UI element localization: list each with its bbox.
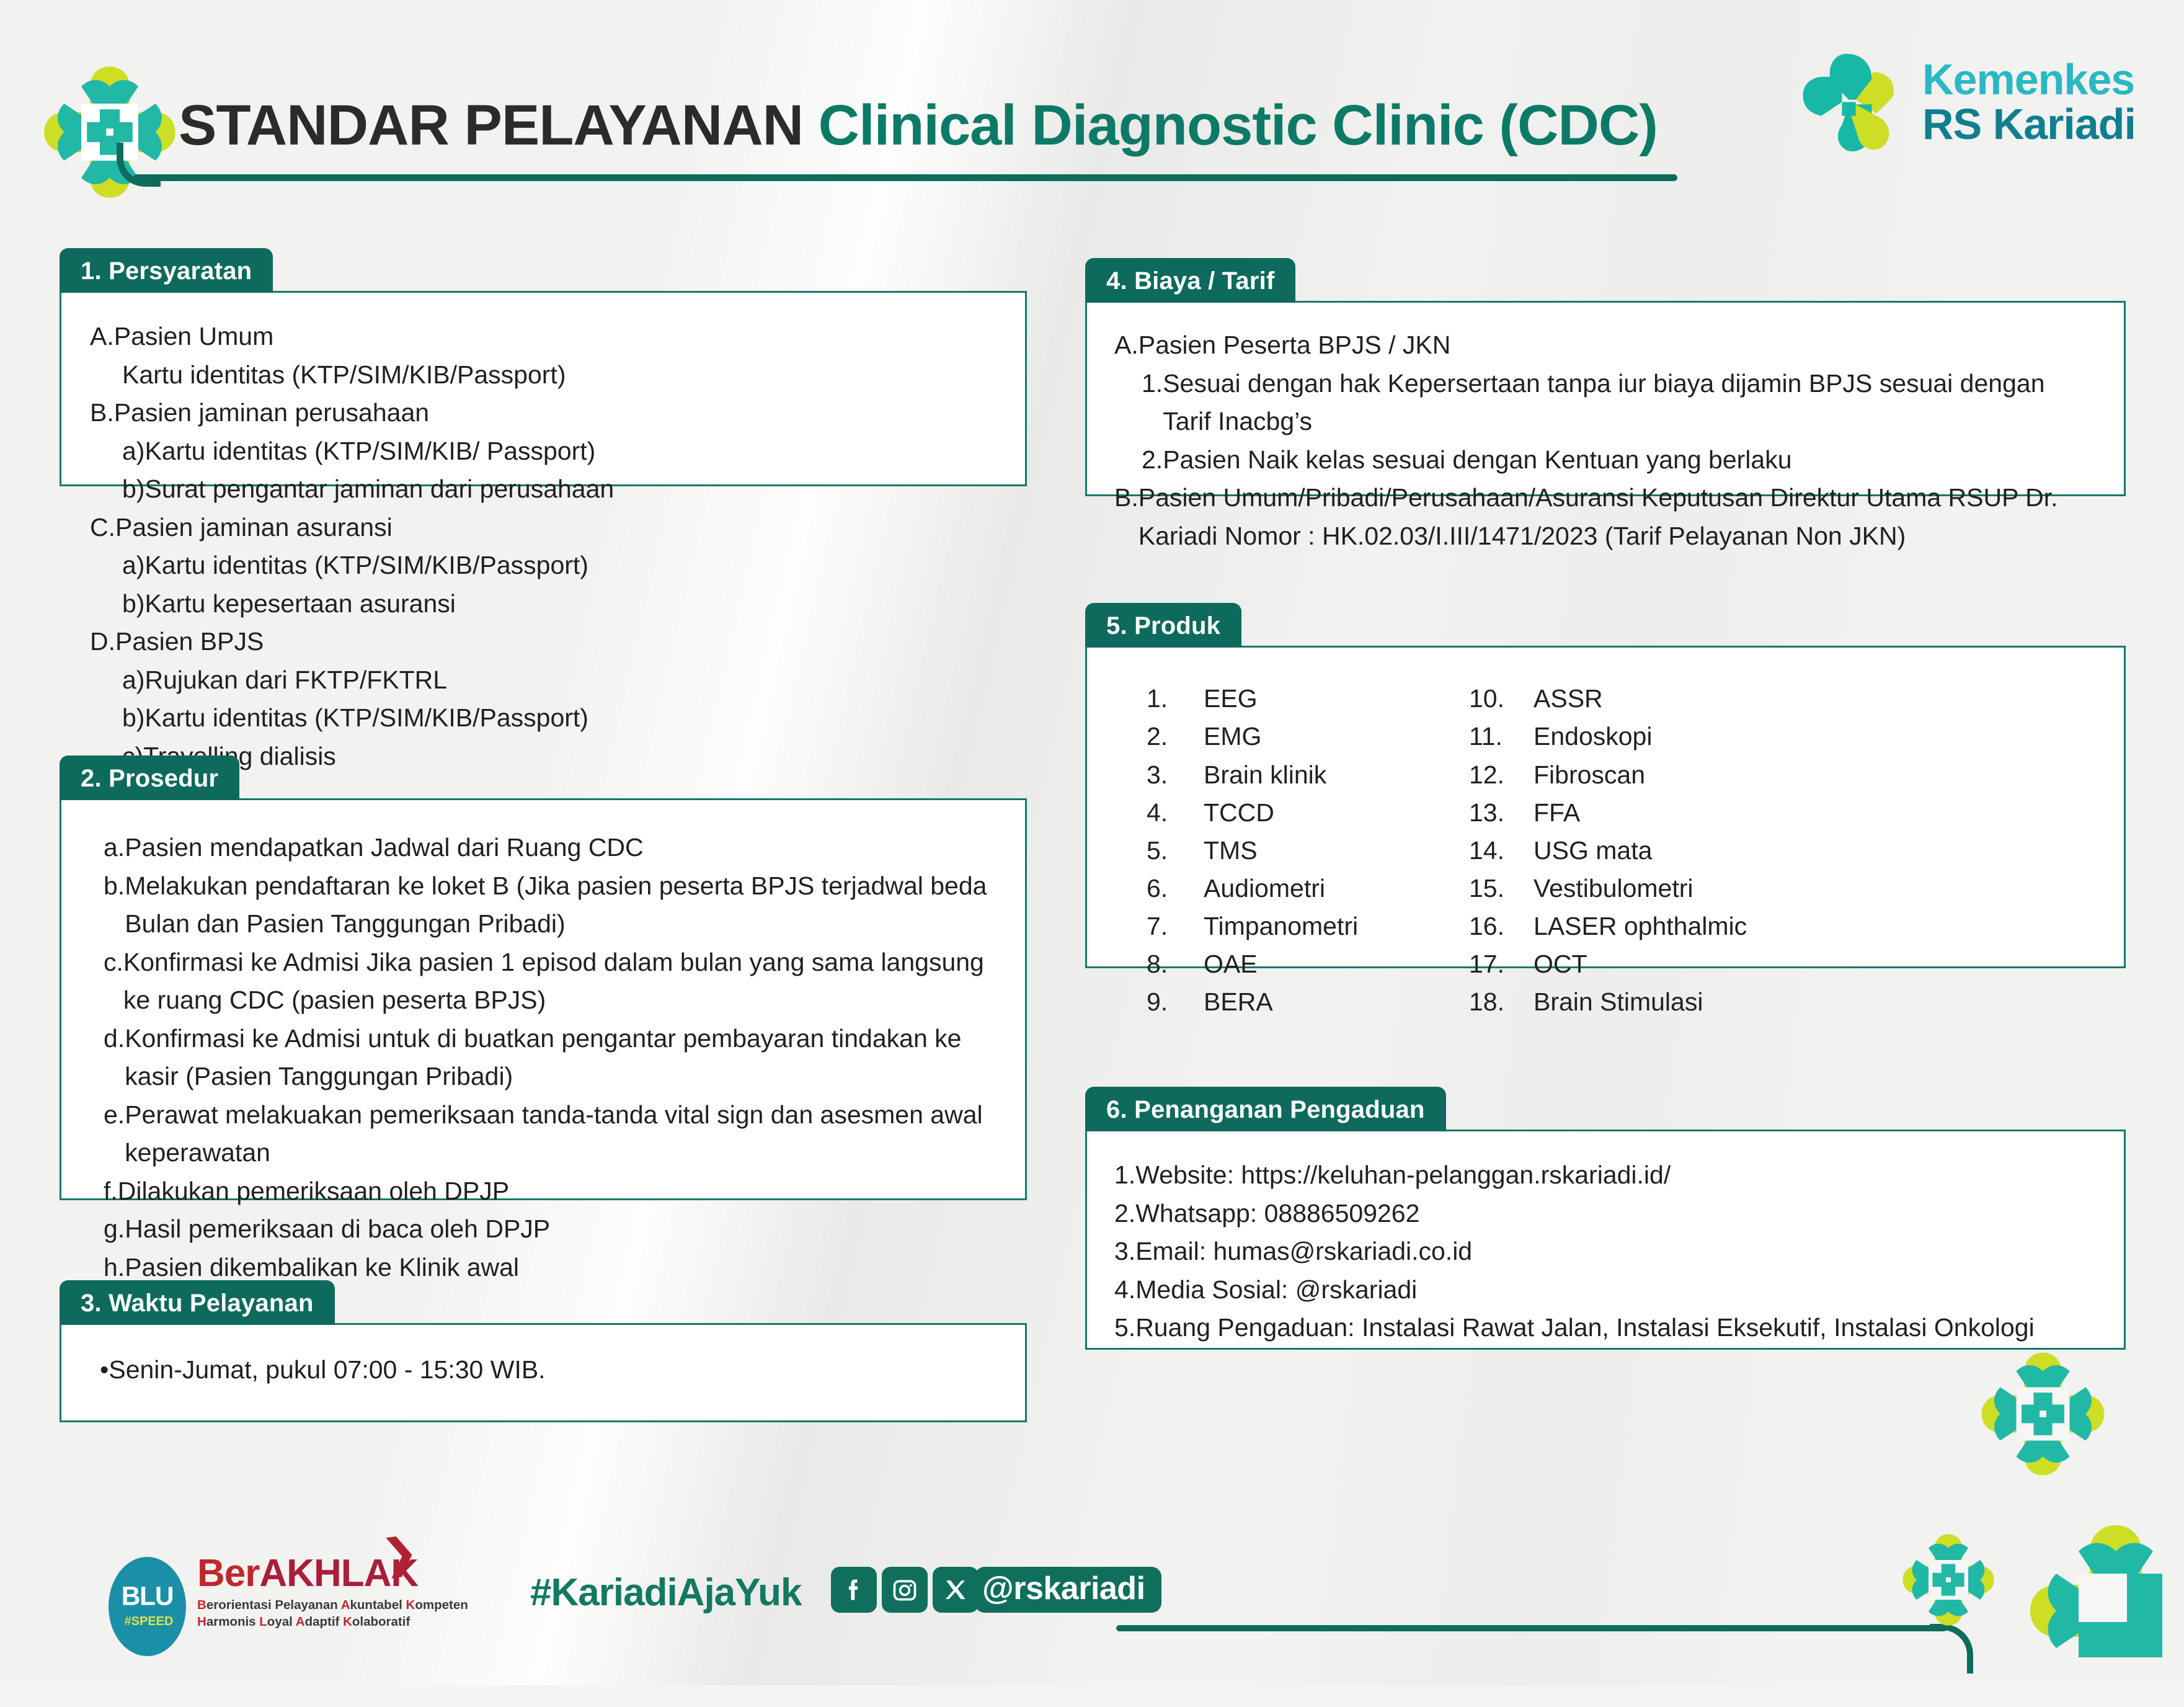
section-produk: 5. Produk 1.EEG 2.EMG 3.Brain klinik 4.T… xyxy=(1085,603,2126,968)
page-title-secondary: Clinical Diagnostic Clinic (CDC) xyxy=(819,94,1658,157)
svg-text:#SPEED: #SPEED xyxy=(125,1615,174,1628)
bullet-icon: • xyxy=(90,1351,109,1389)
list-text: Email: humas@rskariadi.co.id xyxy=(1135,1232,1472,1271)
list-text: ASSR xyxy=(1534,680,1603,718)
list-item: 7.Timpanometri xyxy=(1147,907,1469,945)
list-text: Kartu identitas (KTP/SIM/KIB/Passport) xyxy=(122,356,566,394)
list-marker: b) xyxy=(122,470,144,509)
list-marker: 17. xyxy=(1469,945,1534,983)
list-marker: 5. xyxy=(1147,832,1204,870)
list-text: OCT xyxy=(1534,945,1587,983)
list-item: 13.FFA xyxy=(1469,794,1747,832)
list-item: 15.Vestibulometri xyxy=(1469,870,1747,907)
footer-rule xyxy=(1116,1625,1947,1631)
list-item: A.Pasien Umum xyxy=(90,318,997,356)
list-marker: 3. xyxy=(1114,1232,1135,1271)
list-text: Pasien BPJS xyxy=(115,623,264,661)
list-item: C.Pasien jaminan asuransi xyxy=(90,509,997,547)
list-marker: 4. xyxy=(1114,1271,1135,1309)
list-item: b)Surat pengantar jaminan dari perusahaa… xyxy=(122,470,997,509)
list-item: 16.LASER ophthalmic xyxy=(1469,907,1747,945)
chevron-right-icon: ❯ xyxy=(381,1531,419,1576)
list-marker: D. xyxy=(90,623,115,661)
section-tab-3: 3. Waktu Pelayanan xyxy=(60,1280,335,1325)
list-marker: 15. xyxy=(1469,870,1534,907)
section-biaya-tarif: 4. Biaya / Tarif A.Pasien Peserta BPJS /… xyxy=(1085,258,2126,496)
list-item: 1.Sesuai dengan hak Kepersertaan tanpa i… xyxy=(1142,365,2097,441)
list-marker: 2. xyxy=(1114,1195,1135,1233)
list-marker: 1. xyxy=(1114,1156,1135,1195)
decorative-flower-corner xyxy=(2023,1518,2184,1704)
berakhlak-logo: BerAKHLAK ❯ Berorientasi Pelayanan Akunt… xyxy=(197,1554,468,1630)
list-text: OAE xyxy=(1204,945,1258,983)
produk-column-2: 10.ASSR 11.Endoskopi 12.Fibroscan 13.FFA… xyxy=(1469,680,1747,1021)
list-marker: 5. xyxy=(1114,1309,1135,1347)
list-item: d.Konfirmasi ke Admisi untuk di buatkan … xyxy=(104,1020,997,1096)
list-item: 18.Brain Stimulasi xyxy=(1469,983,1747,1021)
produk-column-1: 1.EEG 2.EMG 3.Brain klinik 4.TCCD 5.TMS … xyxy=(1147,680,1469,1021)
list-marker: e. xyxy=(104,1096,125,1172)
list-item: 14.USG mata xyxy=(1469,832,1747,870)
section-body-5: 1.EEG 2.EMG 3.Brain klinik 4.TCCD 5.TMS … xyxy=(1085,646,2126,968)
list-item: 11.Endoskopi xyxy=(1469,718,1747,755)
list-marker: A. xyxy=(1114,326,1139,365)
list-item: 1.Website: https://keluhan-pelanggan.rsk… xyxy=(1114,1156,2097,1195)
list-text: Pasien Umum xyxy=(114,318,273,356)
list-item: a)Kartu identitas (KTP/SIM/KIB/ Passport… xyxy=(122,432,997,471)
list-text: Surat pengantar jaminan dari perusahaan xyxy=(144,470,614,509)
list-text: Pasien Naik kelas sesuai dengan Kentuan … xyxy=(1163,441,1791,479)
social-links[interactable]: @rskariadi xyxy=(831,1567,1161,1613)
page-footer: BLU #SPEED BerAKHLAK ❯ Berorientasi Pela… xyxy=(0,1532,2184,1685)
list-marker: 6. xyxy=(1147,870,1204,907)
page-header: STANDAR PELAYANAN Clinical Diagnostic Cl… xyxy=(0,0,2184,186)
list-text: Pasien jaminan perusahaan xyxy=(114,394,429,432)
section-body-1: A.Pasien Umum Kartu identitas (KTP/SIM/K… xyxy=(60,291,1027,486)
list-text: Brain Stimulasi xyxy=(1534,983,1703,1021)
list-item: 4.TCCD xyxy=(1147,794,1469,832)
list-marker: a) xyxy=(122,661,144,700)
list-item: B.Pasien Umum/Pribadi/Perusahaan/Asurans… xyxy=(1114,479,2097,555)
header-rule xyxy=(133,174,1677,181)
brand-line-1: Kemenkes xyxy=(1922,58,2136,102)
list-text: Endoskopi xyxy=(1534,718,1652,755)
section-penanganan-pengaduan: 6. Penanganan Pengaduan 1.Website: https… xyxy=(1085,1087,2126,1350)
list-item: 8.OAE xyxy=(1147,945,1469,983)
list-marker: 14. xyxy=(1469,832,1534,870)
instagram-icon[interactable] xyxy=(882,1567,928,1613)
section-tab-1: 1. Persyaratan xyxy=(60,248,273,293)
list-text: Hasil pemeriksaan di baca oleh DPJP xyxy=(125,1210,550,1249)
list-marker: 2. xyxy=(1142,441,1163,479)
page-title-primary: STANDAR PELAYANAN xyxy=(179,94,803,157)
list-text: EEG xyxy=(1204,680,1258,718)
list-marker: 1. xyxy=(1147,680,1204,718)
list-text: Melakukan pendaftaran ke loket B (Jika p… xyxy=(125,867,997,943)
list-text: Dilakukan pemeriksaan oleh DPJP xyxy=(118,1172,509,1211)
list-marker: 18. xyxy=(1469,983,1534,1021)
list-text: Perawat melakuakan pemeriksaan tanda-tan… xyxy=(125,1096,997,1172)
list-marker: a. xyxy=(104,829,125,867)
section-prosedur: 2. Prosedur a.Pasien mendapatkan Jadwal … xyxy=(60,755,1027,1200)
list-text: Media Sosial: @rskariadi xyxy=(1135,1271,1417,1309)
list-text: Pasien jaminan asuransi xyxy=(115,509,393,547)
list-marker: 11. xyxy=(1469,718,1534,755)
facebook-icon[interactable] xyxy=(831,1567,877,1613)
list-item: 9.BERA xyxy=(1147,983,1469,1021)
list-item: 6.Audiometri xyxy=(1147,870,1469,907)
list-marker: 2. xyxy=(1147,718,1204,755)
list-text: Audiometri xyxy=(1204,870,1325,907)
list-marker: a) xyxy=(122,432,144,471)
list-text: Kartu identitas (KTP/SIM/KIB/ Passport) xyxy=(144,432,595,471)
list-item: f.Dilakukan pemeriksaan oleh DPJP xyxy=(104,1172,997,1211)
list-item: 2.Whatsapp: 08886509262 xyxy=(1114,1195,2097,1233)
list-item: 12.Fibroscan xyxy=(1469,756,1747,794)
list-marker: 12. xyxy=(1469,756,1534,794)
list-marker: C. xyxy=(90,509,115,547)
list-marker: 10. xyxy=(1469,680,1534,718)
list-marker: f. xyxy=(104,1172,118,1211)
section-body-2: a.Pasien mendapatkan Jadwal dari Ruang C… xyxy=(60,798,1027,1200)
list-item: b)Kartu kepesertaan asuransi xyxy=(122,585,997,623)
list-marker: 4. xyxy=(1147,794,1204,832)
list-marker: d. xyxy=(104,1020,125,1096)
list-marker: 7. xyxy=(1147,907,1204,945)
list-item: •Senin-Jumat, pukul 07:00 - 15:30 WIB. xyxy=(90,1351,997,1389)
list-marker: 9. xyxy=(1147,983,1204,1021)
list-marker: 13. xyxy=(1469,794,1534,832)
list-marker: 16. xyxy=(1469,907,1534,945)
kemenkes-brand: Kemenkes RS Kariadi xyxy=(1791,45,2136,159)
list-item: 3.Email: humas@rskariadi.co.id xyxy=(1114,1232,2097,1271)
list-item: 1.EEG xyxy=(1147,680,1469,718)
decorative-flower-small xyxy=(1899,1530,1998,1629)
list-marker: 3. xyxy=(1147,756,1204,794)
list-item: 4.Media Sosial: @rskariadi xyxy=(1114,1271,2097,1309)
list-text: Brain klinik xyxy=(1204,756,1326,794)
list-item: 2.EMG xyxy=(1147,718,1469,755)
list-marker: c. xyxy=(104,943,123,1020)
list-text: Kartu kepesertaan asuransi xyxy=(144,585,455,623)
list-marker: g. xyxy=(104,1210,125,1249)
svg-text:BLU: BLU xyxy=(122,1582,174,1611)
list-marker: b. xyxy=(104,867,125,943)
list-marker: b) xyxy=(122,699,144,738)
decorative-flower-large xyxy=(1976,1347,2110,1481)
list-text: Pasien mendapatkan Jadwal dari Ruang CDC xyxy=(125,829,643,867)
x-twitter-icon[interactable] xyxy=(933,1567,979,1613)
list-item: a)Rujukan dari FKTP/FKTRL xyxy=(122,661,997,700)
brand-line-2: RS Kariadi xyxy=(1922,102,2136,146)
section-persyaratan: 1. Persyaratan A.Pasien Umum Kartu ident… xyxy=(60,248,1027,486)
section-tab-5: 5. Produk xyxy=(1085,603,1241,648)
list-text: FFA xyxy=(1534,794,1580,832)
list-text: Whatsapp: 08886509262 xyxy=(1135,1195,1419,1233)
list-marker: A. xyxy=(90,318,114,356)
list-text: Fibroscan xyxy=(1534,756,1645,794)
list-text: BERA xyxy=(1204,983,1273,1021)
list-text: Rujukan dari FKTP/FKTRL xyxy=(144,661,447,700)
list-item: 2.Pasien Naik kelas sesuai dengan Kentua… xyxy=(1142,441,2097,479)
list-text: LASER ophthalmic xyxy=(1534,907,1747,945)
list-item: B.Pasien jaminan perusahaan xyxy=(90,394,997,432)
list-text: EMG xyxy=(1204,718,1261,755)
list-item: Kartu identitas (KTP/SIM/KIB/Passport) xyxy=(122,356,997,394)
section-tab-6: 6. Penanganan Pengaduan xyxy=(1085,1087,1446,1131)
list-text: Pasien Peserta BPJS / JKN xyxy=(1139,326,1451,365)
social-handle[interactable]: @rskariadi xyxy=(975,1567,1161,1613)
list-item: 5.TMS xyxy=(1147,832,1469,870)
kemenkes-clover-logo xyxy=(1791,45,1906,159)
blu-logo: BLU #SPEED xyxy=(109,1557,186,1656)
list-text: Konfirmasi ke Admisi Jika pasien 1 episo… xyxy=(123,943,997,1020)
list-item: 10.ASSR xyxy=(1469,680,1747,718)
page-title: STANDAR PELAYANAN Clinical Diagnostic Cl… xyxy=(179,93,1658,158)
list-marker: 1. xyxy=(1142,365,1163,441)
list-item: b.Melakukan pendaftaran ke loket B (Jika… xyxy=(104,867,997,943)
list-marker: b) xyxy=(122,585,144,623)
list-item: 5.Ruang Pengaduan: Instalasi Rawat Jalan… xyxy=(1114,1309,2097,1347)
list-item: 17.OCT xyxy=(1469,945,1747,983)
berakhlak-prefix: Ber xyxy=(197,1552,259,1595)
list-text: Timpanometri xyxy=(1204,907,1358,945)
list-item: e.Perawat melakuakan pemeriksaan tanda-t… xyxy=(104,1096,997,1172)
list-text: Kartu identitas (KTP/SIM/KIB/Passport) xyxy=(144,699,588,738)
section-tab-4: 4. Biaya / Tarif xyxy=(1085,258,1295,303)
list-text: TMS xyxy=(1204,832,1258,870)
list-text: Sesuai dengan hak Kepersertaan tanpa iur… xyxy=(1163,365,2097,441)
list-item: c)Travelling dialisis xyxy=(122,738,997,776)
list-item: D.Pasien BPJS xyxy=(90,623,997,661)
list-text: Kartu identitas (KTP/SIM/KIB/Passport) xyxy=(144,546,588,585)
list-text: Senin-Jumat, pukul 07:00 - 15:30 WIB. xyxy=(109,1351,545,1389)
list-marker: 8. xyxy=(1147,945,1204,983)
section-body-3: •Senin-Jumat, pukul 07:00 - 15:30 WIB. xyxy=(60,1323,1027,1422)
list-text: Ruang Pengaduan: Instalasi Rawat Jalan, … xyxy=(1135,1309,2035,1347)
list-marker: B. xyxy=(90,394,114,432)
list-marker: a) xyxy=(122,546,144,585)
section-body-6: 1.Website: https://keluhan-pelanggan.rsk… xyxy=(1085,1130,2126,1350)
section-tab-2: 2. Prosedur xyxy=(60,755,239,800)
section-waktu-pelayanan: 3. Waktu Pelayanan •Senin-Jumat, pukul 0… xyxy=(60,1280,1027,1422)
list-text: Website: https://keluhan-pelanggan.rskar… xyxy=(1135,1156,1671,1195)
list-item: b)Kartu identitas (KTP/SIM/KIB/Passport) xyxy=(122,699,997,738)
section-body-4: A.Pasien Peserta BPJS / JKN 1.Sesuai den… xyxy=(1085,301,2126,496)
list-text: Pasien Umum/Pribadi/Perusahaan/Asuransi … xyxy=(1139,479,2097,555)
list-text: USG mata xyxy=(1534,832,1652,870)
campaign-hashtag: #KariadiAjaYuk xyxy=(530,1571,801,1615)
list-text: Vestibulometri xyxy=(1534,870,1693,907)
list-item: c.Konfirmasi ke Admisi Jika pasien 1 epi… xyxy=(104,943,997,1020)
list-marker: B. xyxy=(1114,479,1139,555)
list-item: 3.Brain klinik xyxy=(1147,756,1469,794)
list-item: a)Kartu identitas (KTP/SIM/KIB/Passport) xyxy=(122,546,997,585)
list-text: TCCD xyxy=(1204,794,1274,832)
list-item: g.Hasil pemeriksaan di baca oleh DPJP xyxy=(104,1210,997,1249)
list-item: A.Pasien Peserta BPJS / JKN xyxy=(1114,326,2097,365)
list-text: Konfirmasi ke Admisi untuk di buatkan pe… xyxy=(125,1020,997,1096)
list-item: a.Pasien mendapatkan Jadwal dari Ruang C… xyxy=(104,829,997,867)
